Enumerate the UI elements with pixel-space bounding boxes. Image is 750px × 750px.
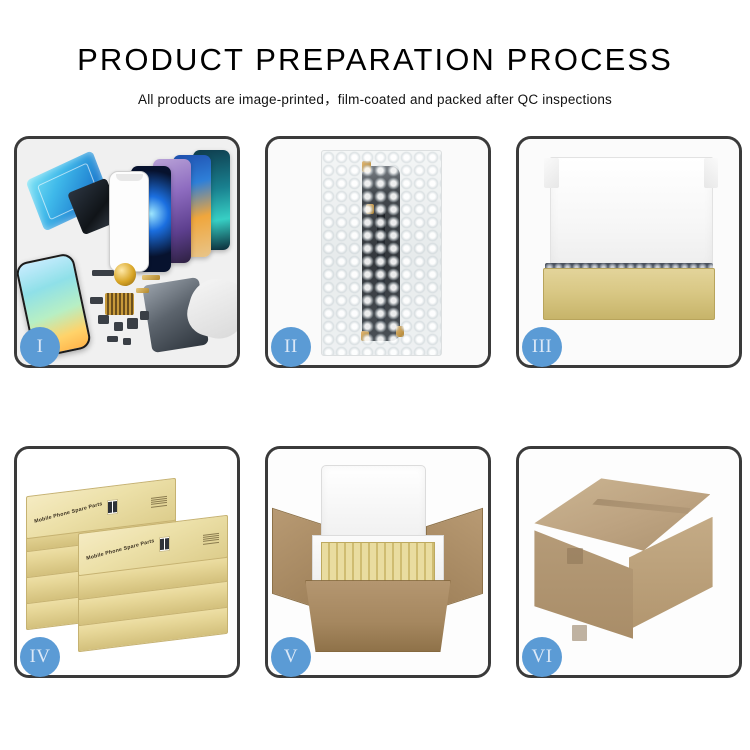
kraft-tray-graphic [543,268,715,320]
step-badge-1: I [20,327,60,367]
box-label-text: Mobile Phone Spare Parts [87,538,156,562]
box-spec-lines [151,496,167,508]
chip-pad-grid-graphic [105,293,134,316]
box-window [160,536,171,552]
small-part-graphic [90,297,103,304]
carton-tab [572,625,587,641]
step-panel-4: Mobile Phone Spare Parts Mobile Phone Sp… [14,446,240,678]
foam-lid-graphic [321,465,427,542]
carton-tab [567,548,582,564]
screen-protector-graphic [109,171,149,273]
box-lid-graphic [550,157,713,275]
gold-connector-graphic [136,288,149,293]
product-preparation-infographic: PRODUCT PREPARATION PROCESS All products… [0,0,750,750]
step-badge-5: V [271,637,311,677]
step-panel-2: II [265,136,491,368]
small-part-graphic [92,270,114,276]
small-part-graphic [123,338,132,345]
step-panel-3: III [516,136,742,368]
box-stack-graphic: Mobile Phone Spare Parts Mobile Phone Sp… [26,476,228,661]
step-badge-2: II [271,327,311,367]
small-part-graphic [114,322,123,331]
process-step-grid: I II I [14,136,748,692]
box-window [107,499,118,515]
small-part-graphic [127,318,138,329]
header: PRODUCT PREPARATION PROCESS All products… [0,0,750,108]
small-part-graphic [98,315,109,324]
small-part-graphic [107,336,118,343]
page-title: PRODUCT PREPARATION PROCESS [0,44,750,77]
packed-boxes-graphic [321,542,435,587]
carton-front-face [534,530,633,638]
box-spec-lines [204,533,220,545]
step-badge-4: IV [20,637,60,677]
step-panel-1: I [14,136,240,368]
bubble-bag-graphic [321,150,442,356]
step-badge-6: VI [522,637,562,677]
bubble-texture [322,151,441,355]
step-panel-6: VI [516,446,742,678]
step-panel-5: V [265,446,491,678]
speaker-coil-graphic [114,263,136,286]
step-badge-3: III [522,327,562,367]
small-part-graphic [140,311,149,320]
carton-body-graphic [305,580,450,652]
box-label-text: Mobile Phone Spare Parts [34,501,103,525]
page-subtitle: All products are image-printed，film-coat… [0,88,750,108]
gold-connector-graphic [142,275,160,281]
